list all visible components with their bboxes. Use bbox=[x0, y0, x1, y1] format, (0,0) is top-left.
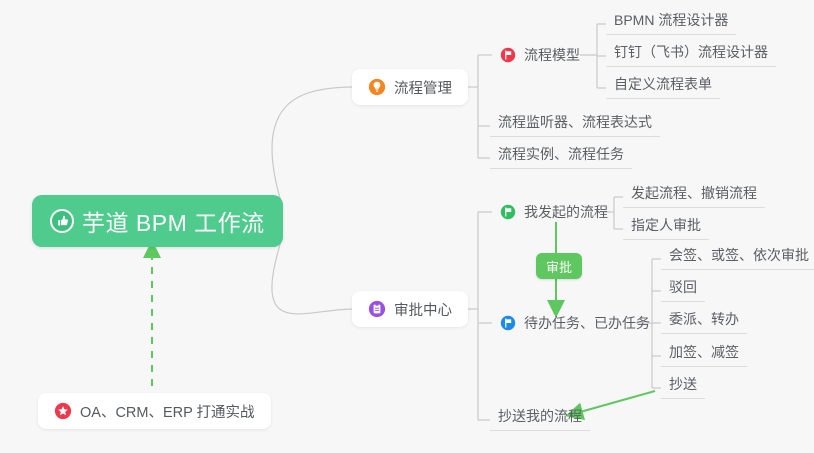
leaf-process-listener[interactable]: 流程监听器、流程表达式 bbox=[490, 111, 660, 137]
leaf-delegate-transfer[interactable]: 委派、转办 bbox=[661, 308, 747, 334]
leaf-label: 钉钉（飞书）流程设计器 bbox=[614, 42, 768, 62]
leaf-bpmn-designer[interactable]: BPMN 流程设计器 bbox=[606, 9, 736, 35]
leaf-label: 流程监听器、流程表达式 bbox=[498, 112, 652, 132]
footer-node-oa-crm-erp[interactable]: OA、CRM、ERP 打通实战 bbox=[38, 393, 271, 429]
leaf-label: 抄送 bbox=[669, 374, 697, 394]
thumbs-up-icon bbox=[50, 209, 74, 233]
leaf-label: 抄送我的流程 bbox=[498, 406, 582, 426]
approve-badge: 审批 bbox=[536, 253, 582, 279]
leaf-label: 会签、或签、依次审批 bbox=[669, 245, 809, 265]
leaf-assigned-approval[interactable]: 指定人审批 bbox=[623, 214, 709, 240]
leaf-dingtalk-designer[interactable]: 钉钉（飞书）流程设计器 bbox=[606, 41, 776, 67]
leaf-reject[interactable]: 驳回 bbox=[661, 276, 705, 302]
branch-approval-center[interactable]: 审批中心 bbox=[352, 291, 468, 327]
leaf-add-remove-sign[interactable]: 加签、减签 bbox=[661, 341, 747, 367]
leaf-label: 驳回 bbox=[669, 277, 697, 297]
node-todo-tasks[interactable]: 待办任务、已办任务 bbox=[492, 310, 658, 336]
leaf-label: 委派、转办 bbox=[669, 309, 739, 329]
mindmap-canvas: 芋道 BPM 工作流 流程管理 流程模型 BPMN 流程设计器 钉钉（飞书 bbox=[0, 0, 814, 453]
node-label: 流程模型 bbox=[524, 45, 580, 65]
leaf-label: 加签、减签 bbox=[669, 342, 739, 362]
branch-process-management[interactable]: 流程管理 bbox=[352, 69, 468, 105]
branch-label: 审批中心 bbox=[394, 299, 452, 320]
lightbulb-icon bbox=[368, 78, 386, 96]
leaf-process-instance[interactable]: 流程实例、流程任务 bbox=[490, 143, 632, 169]
leaf-start-cancel-process[interactable]: 发起流程、撤销流程 bbox=[623, 182, 765, 208]
node-label: 我发起的流程 bbox=[524, 202, 608, 222]
approve-badge-label: 审批 bbox=[546, 257, 572, 276]
node-process-model[interactable]: 流程模型 bbox=[492, 42, 588, 68]
star-red-icon bbox=[54, 402, 72, 420]
leaf-countersign[interactable]: 会签、或签、依次审批 bbox=[661, 244, 814, 270]
leaf-cc[interactable]: 抄送 bbox=[661, 373, 705, 399]
wire-root-to-approval-center bbox=[272, 238, 352, 314]
branch-label: 流程管理 bbox=[394, 77, 452, 98]
leaf-custom-form[interactable]: 自定义流程表单 bbox=[606, 73, 720, 99]
footer-node-label: OA、CRM、ERP 打通实战 bbox=[80, 401, 255, 422]
root-label: 芋道 BPM 工作流 bbox=[82, 204, 265, 238]
flag-red-icon bbox=[500, 47, 516, 63]
leaf-cc-my-process[interactable]: 抄送我的流程 bbox=[490, 405, 590, 431]
node-label: 待办任务、已办任务 bbox=[524, 313, 650, 333]
clipboard-icon bbox=[368, 300, 386, 318]
leaf-label: 发起流程、撤销流程 bbox=[631, 183, 757, 203]
root-node[interactable]: 芋道 BPM 工作流 bbox=[32, 195, 283, 247]
flag-blue-icon bbox=[500, 315, 516, 331]
leaf-label: 流程实例、流程任务 bbox=[498, 144, 624, 164]
leaf-label: BPMN 流程设计器 bbox=[614, 10, 728, 30]
flag-green-icon bbox=[500, 204, 516, 220]
leaf-label: 自定义流程表单 bbox=[614, 74, 712, 94]
leaf-label: 指定人审批 bbox=[631, 215, 701, 235]
node-my-initiated[interactable]: 我发起的流程 bbox=[492, 199, 616, 225]
wire-root-to-process-management bbox=[272, 87, 352, 205]
